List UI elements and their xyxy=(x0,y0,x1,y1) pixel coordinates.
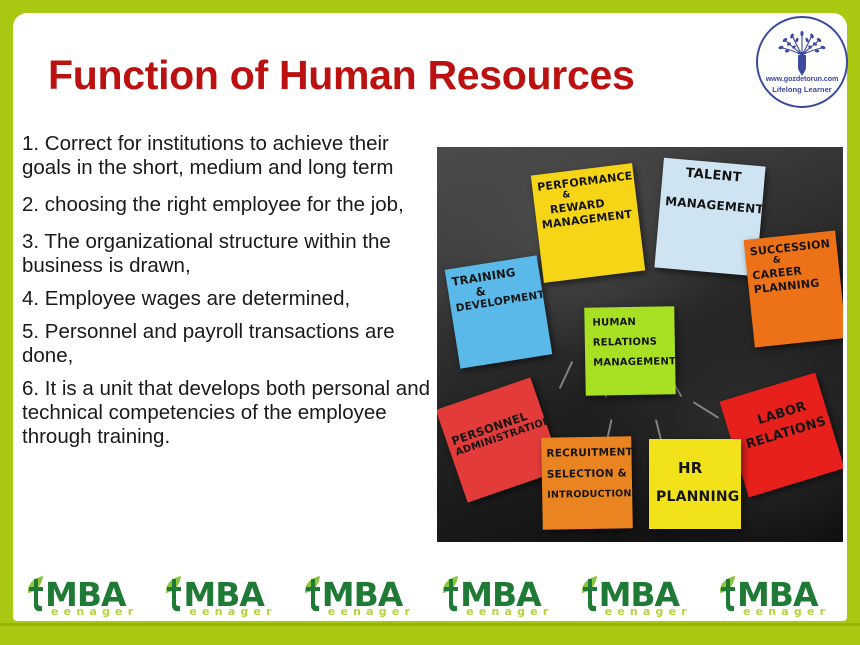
mba-logo: MBA eenager xyxy=(298,572,424,620)
note-line: HUMAN xyxy=(592,316,669,330)
performance-and-reward-management-note: PERFORMANCE & REWARD MANAGEMENT xyxy=(531,163,645,283)
training-and-development-note: TRAINING & DEVELOPMENT xyxy=(445,255,552,368)
body-text-list: 1. Correct for institutions to achieve t… xyxy=(22,132,434,458)
note-line: RECRUITMENT, xyxy=(546,446,626,460)
list-item: 3. The organizational structure within t… xyxy=(22,230,434,278)
note-line: HR xyxy=(678,459,736,477)
note-line: MANAGEMENT xyxy=(593,357,670,371)
slide: Function of Human Resources xyxy=(0,0,860,645)
brand-logo: www.gozdetorun.com Lifelong Learner xyxy=(756,16,848,108)
note-line: PLANNING xyxy=(656,489,736,506)
note-line: SELECTION & xyxy=(547,467,627,481)
page-title: Function of Human Resources xyxy=(48,53,748,98)
mba-logo: MBA eenager xyxy=(159,572,285,620)
mba-logo: MBA eenager xyxy=(21,572,147,620)
list-item: 5. Personnel and payroll transactions ar… xyxy=(22,320,434,368)
list-item: 1. Correct for institutions to achieve t… xyxy=(22,132,434,180)
mba-logo: MBA eenager xyxy=(575,572,701,620)
mba-logo-subword: eenager xyxy=(328,605,415,618)
succession-and-career-planning-note: SUCCESSION & CAREER PLANNING xyxy=(744,230,843,347)
mba-logo: MBA eenager xyxy=(436,572,562,620)
mba-logo: MBA eenager xyxy=(713,572,839,620)
brand-logo-tagline: Lifelong Learner xyxy=(758,85,846,94)
footer-logo-strip: MBA eenager MBA eenager MBA eenager xyxy=(13,570,847,622)
list-item: 2. choosing the right employee for the j… xyxy=(22,193,434,217)
brand-logo-url: www.gozdetorun.com xyxy=(758,74,846,83)
mba-logo-subword: eenager xyxy=(51,605,138,618)
footer-green-band-edge xyxy=(0,623,860,626)
recruitment-selection-introduction-note: RECRUITMENT, SELECTION & INTRODUCTION xyxy=(541,436,633,530)
mba-logo-subword: eenager xyxy=(189,605,276,618)
note-line: INTRODUCTION xyxy=(547,488,627,501)
human-relations-management-note: HUMAN RELATIONS MANAGEMENT xyxy=(584,306,676,396)
mba-logo-subword: eenager xyxy=(605,605,692,618)
note-line: TALENT xyxy=(685,166,760,188)
hr-planning-note: HR PLANNING xyxy=(649,439,741,529)
note-line: RELATIONS xyxy=(593,336,670,350)
hr-functions-photo: TRAINING & DEVELOPMENT PERFORMANCE & REW… xyxy=(437,147,843,542)
note-line: MANAGEMENT xyxy=(665,194,758,217)
footer-green-band xyxy=(0,623,860,645)
mba-logo-subword: eenager xyxy=(466,605,553,618)
list-item: 4. Employee wages are determined, xyxy=(22,287,434,311)
list-item: 6. It is a unit that develops both perso… xyxy=(22,377,434,449)
mba-logo-subword: eenager xyxy=(743,605,830,618)
tree-pen-icon xyxy=(774,29,830,77)
